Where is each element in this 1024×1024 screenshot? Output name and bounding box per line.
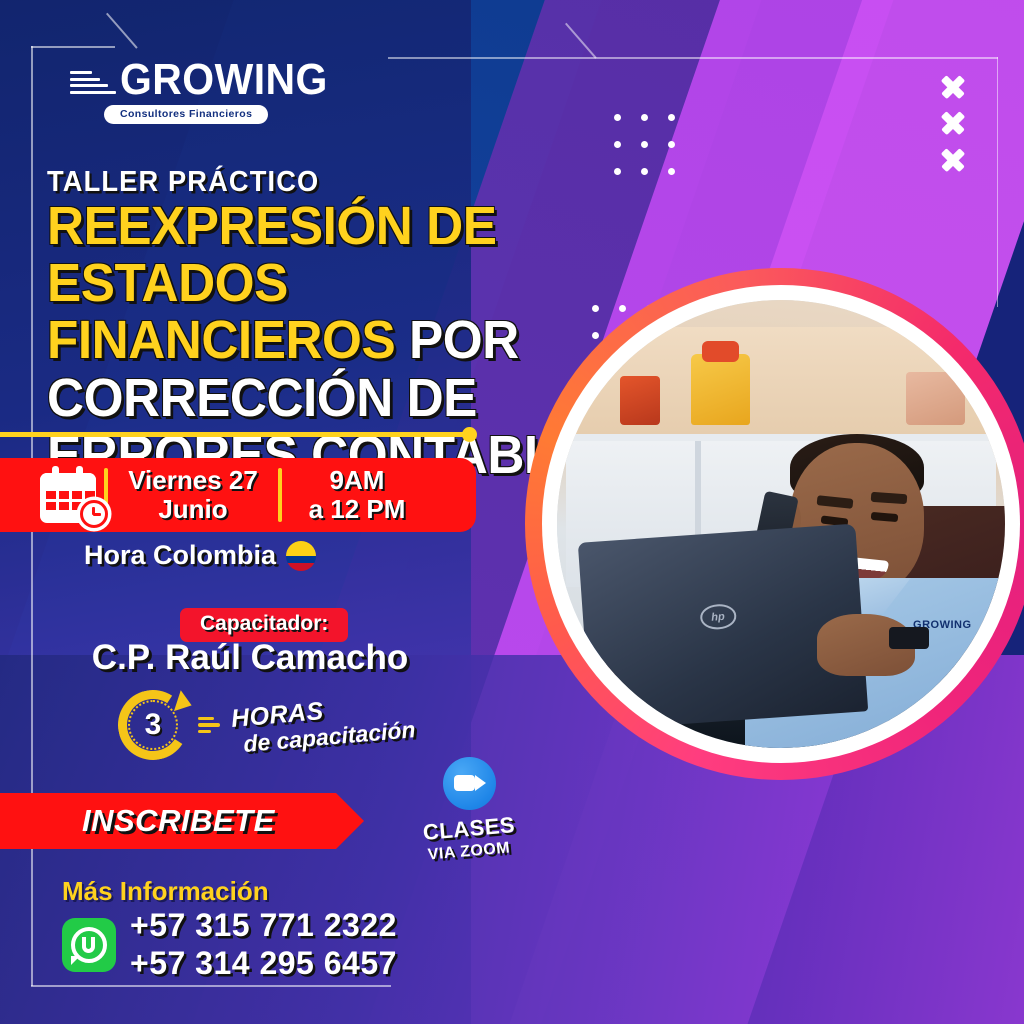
headline-line2-plain: POR (395, 310, 519, 370)
headline-line1: REEXPRESIÓN DE ESTADOS (47, 196, 496, 313)
schedule-month: Junio (108, 495, 278, 524)
platform-badge: CLASES VIA ZOOM (415, 757, 523, 861)
close-x-icon (940, 147, 966, 173)
hp-logo-icon (699, 604, 737, 631)
dot-grid-icon (614, 114, 675, 175)
schedule-day: Viernes 27 (108, 466, 278, 495)
headline-kicker: TALLER PRÁCTICO (47, 166, 319, 199)
promo-poster: GROWING Consultores Financieros TALLER P… (0, 0, 1024, 1024)
headline-line2-highlight: FINANCIEROS (47, 310, 395, 370)
presenter-photo: GROWING (557, 300, 1005, 748)
register-button[interactable]: INSCRIBETE (0, 793, 364, 849)
brand-name: GROWING (120, 60, 328, 100)
schedule-banner: Viernes 27 Junio 9AM a 12 PM (0, 458, 476, 532)
schedule-time: 9AM a 12 PM (282, 466, 432, 523)
schedule-date: Viernes 27 Junio (108, 466, 278, 523)
duration-number: 3 (118, 690, 188, 760)
photo-ring-white: GROWING (542, 285, 1020, 763)
duration-badge: 3 HORAS de capacitación (118, 690, 415, 760)
divider-line (0, 432, 468, 437)
photo-ring-outer: GROWING (525, 268, 1024, 780)
phone-number[interactable]: +57 314 295 6457 (130, 946, 397, 982)
close-x-icon (940, 110, 966, 136)
close-x-icon (940, 74, 966, 100)
frame-line-top-right (388, 57, 998, 59)
calendar-clock-icon (40, 466, 104, 524)
divider-dot (462, 427, 477, 442)
phone-number[interactable]: +57 315 771 2322 (130, 908, 397, 944)
speed-lines-icon (198, 717, 220, 734)
frame-line-bottom-left (31, 985, 391, 987)
headline-line3: CORRECCIÓN DE (47, 368, 477, 428)
whatsapp-icon[interactable] (62, 918, 116, 972)
trainer-label: Capacitador: (180, 608, 348, 642)
frame-line-right (997, 57, 999, 307)
contact-row[interactable]: +57 315 771 2322 +57 314 295 6457 (62, 908, 397, 982)
growing-bars-logo-icon (70, 71, 116, 100)
brand-logo: GROWING Consultores Financieros (70, 60, 300, 124)
colombia-flag-icon (286, 541, 316, 571)
brand-tagline: Consultores Financieros (104, 105, 268, 124)
time-end: a 12 PM (282, 495, 432, 524)
stopwatch-icon: 3 (118, 690, 188, 760)
phone-list: +57 315 771 2322 +57 314 295 6457 (130, 908, 397, 982)
frame-line-top-left (31, 46, 115, 48)
timezone-row: Hora Colombia (84, 540, 316, 571)
contact-heading: Más Información (62, 876, 269, 907)
register-button-label: INSCRIBETE (82, 803, 275, 839)
time-start: 9AM (282, 466, 432, 495)
timezone-label: Hora Colombia (84, 540, 276, 571)
zoom-camera-icon (443, 757, 496, 810)
trainer-name: C.P. Raúl Camacho (0, 638, 500, 678)
